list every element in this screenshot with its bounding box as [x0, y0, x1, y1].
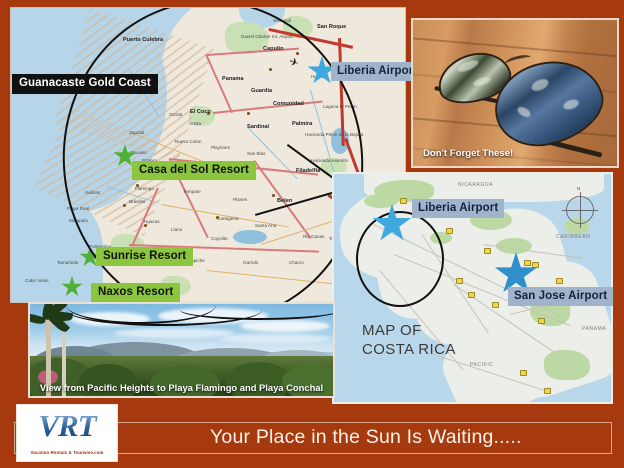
- label-liberia-airport-inset: Liberia Airport: [412, 199, 504, 218]
- map-place-label: El Coco: [190, 109, 211, 115]
- star-marker-naxos-resort: [61, 276, 83, 298]
- map-place-label: Playones: [211, 145, 230, 150]
- map-place-label: Garrido: [243, 260, 258, 265]
- compass-north-label: N: [577, 186, 581, 191]
- map-place-label: Playa Real: [67, 206, 89, 211]
- map-place-label: Panama: [222, 76, 243, 82]
- compass-rose-icon: [566, 196, 594, 224]
- map-place-label: Capulin: [263, 46, 284, 52]
- map-place-label: Tamarindo: [57, 260, 78, 265]
- map-place-label: Cartagena: [217, 216, 238, 221]
- map-place-label: Rio Canas: [303, 234, 324, 239]
- map-place-label: Salinas: [85, 190, 100, 195]
- map-place-label: Sercondi: [273, 18, 291, 23]
- map-place-label: Comunidad: [273, 101, 304, 107]
- map-place-label: San Roque: [317, 24, 346, 30]
- map-place-label: Laguna El Pelon: [323, 104, 357, 109]
- map-place-label: Planes: [233, 197, 247, 202]
- label-san-jose-airport: San Jose Airport: [508, 287, 613, 306]
- poster-canvas: Puerto Culebra Capulin Panama Guardia Co…: [0, 0, 624, 468]
- map-place-label: Matapalo: [69, 218, 88, 223]
- sunglasses-photo-canvas: Don't Forget These!: [413, 20, 617, 166]
- map-place-label: Puerto Culebra: [123, 37, 163, 43]
- geo-label-nicaragua: NICARAGUA: [458, 182, 493, 188]
- label-guanacaste-gold-coast: Guanacaste Gold Coast: [12, 74, 158, 94]
- costa-rica-map-title: MAP OF COSTA RICA: [362, 322, 456, 360]
- map-title-line-2: COSTA RICA: [362, 341, 456, 360]
- map-place-label: Palmira: [292, 121, 312, 127]
- vrt-logo[interactable]: VRT Vacation Rentals & Tourwise.com: [16, 404, 118, 462]
- label-naxos-resort: Naxos Resort: [91, 283, 180, 302]
- map-title-line-1: MAP OF: [362, 322, 456, 341]
- vrt-logo-tagline: Vacation Rentals & Tourwise.com: [17, 450, 117, 455]
- map-place-label: Filadelfia: [296, 168, 320, 174]
- map-place-label: Ocotal: [169, 112, 182, 117]
- map-place-label: Cabo Velas: [25, 278, 49, 283]
- map-place-label: Llano: [171, 227, 182, 232]
- landscape-photo-canvas: View from Pacific Heights to Playa Flami…: [30, 304, 333, 396]
- footer-tagline: Your Place in the Sun Is Waiting.....: [210, 424, 602, 450]
- geo-label-pacific: PACIFIC: [470, 362, 494, 368]
- map-place-label: Artola: [189, 121, 201, 126]
- map-place-label: San Blas: [247, 151, 265, 156]
- map-place-label: Hacienda Aserrillo: [311, 158, 348, 163]
- sunglasses-caption: Don't Forget These!: [423, 148, 513, 159]
- landscape-photo-panel[interactable]: View from Pacific Heights to Playa Flami…: [28, 302, 335, 398]
- geo-label-panama: PANAMA: [582, 326, 606, 332]
- map-place-label: Brasilito: [129, 199, 145, 204]
- map-place-label: Nuevo Colon: [175, 139, 202, 144]
- geo-label-caribbean: CARIBBEAN: [556, 234, 590, 240]
- sunglasses-photo-panel[interactable]: Don't Forget These!: [411, 18, 619, 168]
- map-place-label: Guardia: [251, 88, 272, 94]
- map-place-label: Tempate: [183, 189, 201, 194]
- label-casa-del-sol-resort: Casa del Sol Resort: [132, 161, 256, 180]
- map-place-label: Santa Ana: [255, 223, 276, 228]
- map-place-label: Daniel Oduber Int. Airport: [241, 34, 293, 39]
- label-sunrise-resort: Sunrise Resort: [96, 247, 193, 266]
- map-place-label: Flamingo: [135, 186, 154, 191]
- label-liberia-airport-main: Liberia Airport: [331, 62, 423, 81]
- map-place-label: Charco: [289, 260, 304, 265]
- vrt-logo-text: VRT: [17, 408, 117, 444]
- map-place-label: Huacas: [144, 219, 160, 224]
- map-place-label: Sardinal: [247, 124, 269, 130]
- landscape-caption: View from Pacific Heights to Playa Flami…: [30, 382, 333, 393]
- map-place-label: Zapotal: [129, 130, 144, 135]
- map-place-label: Hacienda Pelon de la Bajura: [305, 132, 363, 137]
- map-place-label: Coyolito: [211, 236, 228, 241]
- star-marker-liberia-airport-inset: [372, 204, 412, 244]
